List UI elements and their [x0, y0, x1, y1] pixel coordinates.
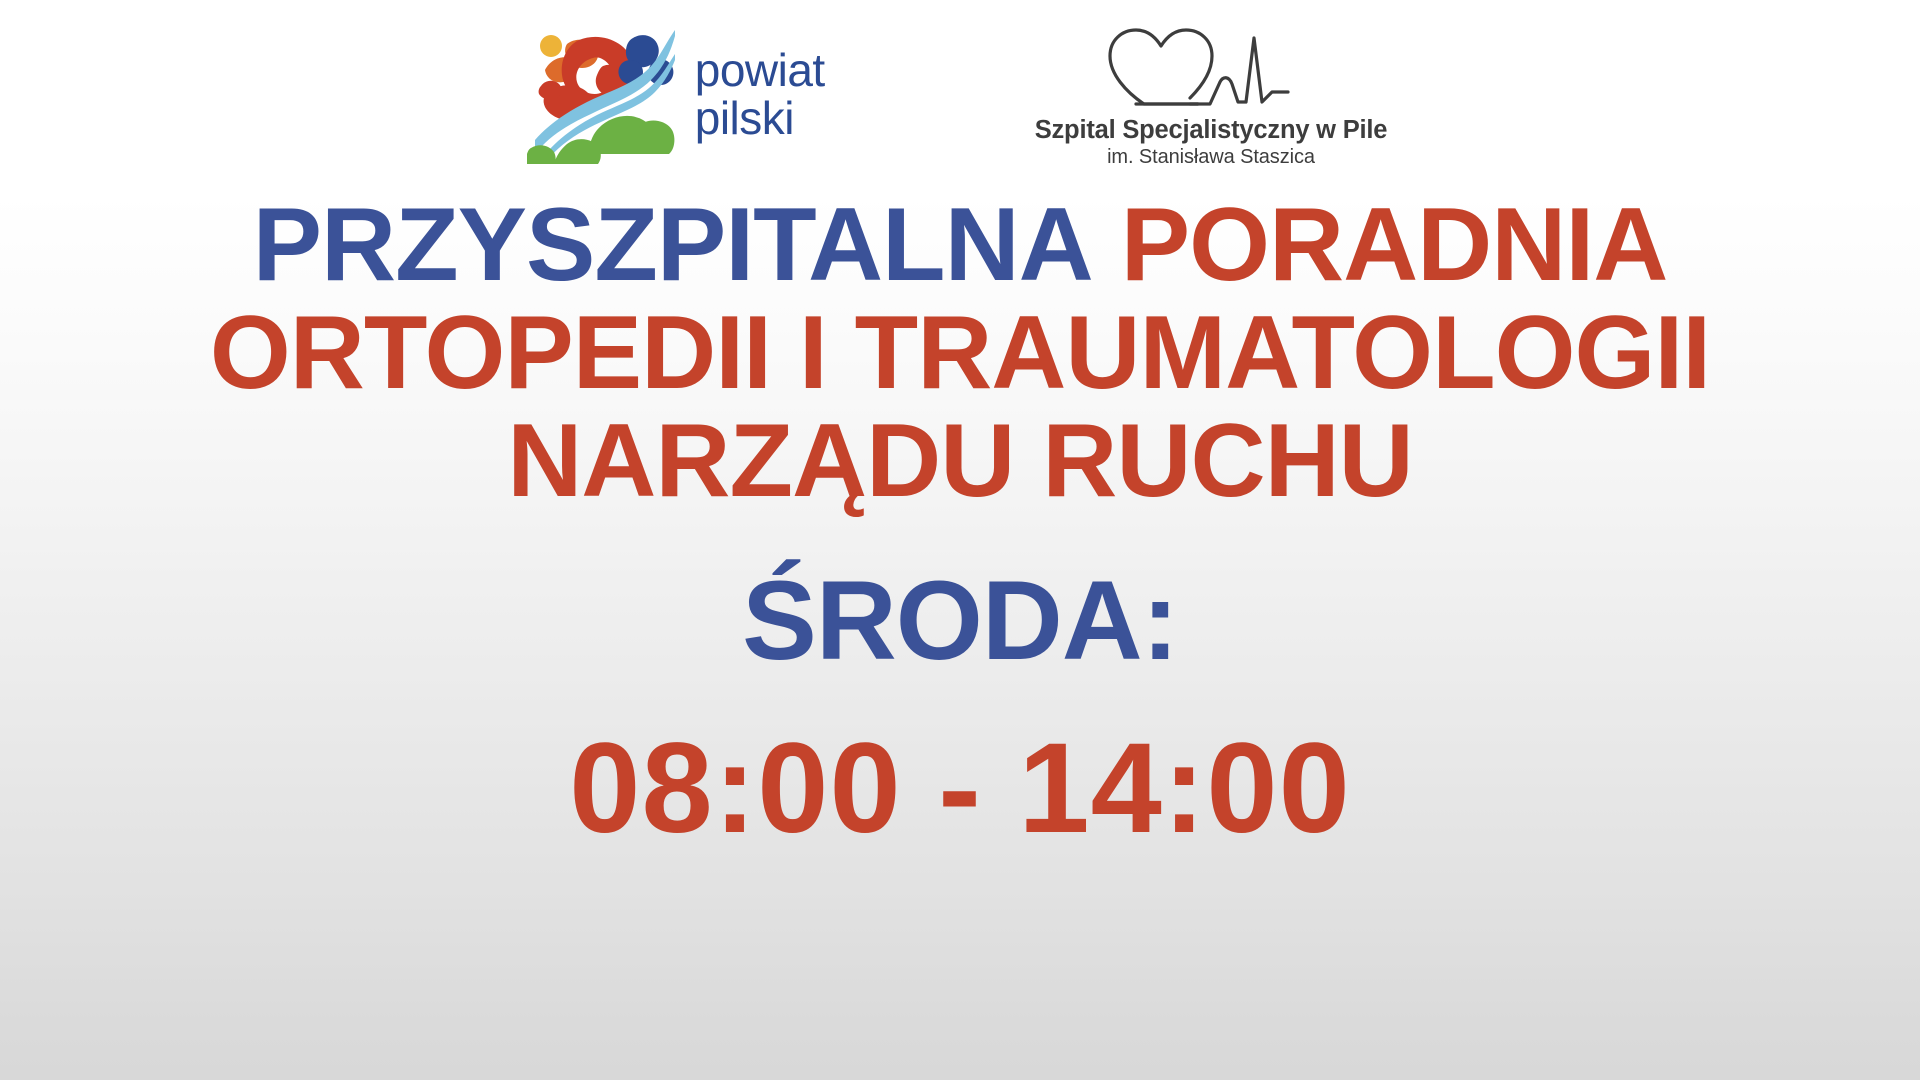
- szpital-specjalistyczny-logo: Szpital Specjalistyczny w Pile im. Stani…: [1019, 14, 1404, 179]
- powiat-line-2: pilski: [695, 95, 825, 143]
- day-label: ŚRODA:: [0, 565, 1920, 677]
- hospital-name: Szpital Specjalistyczny w Pile: [1035, 116, 1388, 145]
- heart-ecg-icon: [1086, 22, 1336, 114]
- powiat-pilski-logo: powiat pilski: [517, 14, 839, 182]
- announcement-slide: powiat pilski Szpital Specjalistyczn: [0, 0, 1920, 1080]
- powiat-pilski-wordmark: powiat pilski: [695, 47, 825, 143]
- headline-line-3: NARZĄDU RUCHU: [0, 409, 1920, 513]
- powiat-line-1: powiat: [695, 47, 825, 95]
- opening-hours: 08:00 - 14:00: [0, 725, 1920, 853]
- headline-block: PRZYSZPITALNA PORADNIA ORTOPEDII I TRAUM…: [0, 193, 1920, 513]
- hospital-patron: im. Stanisława Staszica: [1107, 146, 1315, 169]
- floral-landscape-icon: [527, 20, 677, 170]
- logo-row: powiat pilski Szpital Specjalistyczn: [0, 0, 1920, 185]
- headline-line-2: ORTOPEDII I TRAUMATOLOGII: [0, 301, 1920, 405]
- headline-word-przyszpitalna: PRZYSZPITALNA: [253, 187, 1093, 303]
- headline-word-poradnia: PORADNIA: [1121, 187, 1668, 303]
- headline-line-1: PRZYSZPITALNA PORADNIA: [0, 193, 1920, 297]
